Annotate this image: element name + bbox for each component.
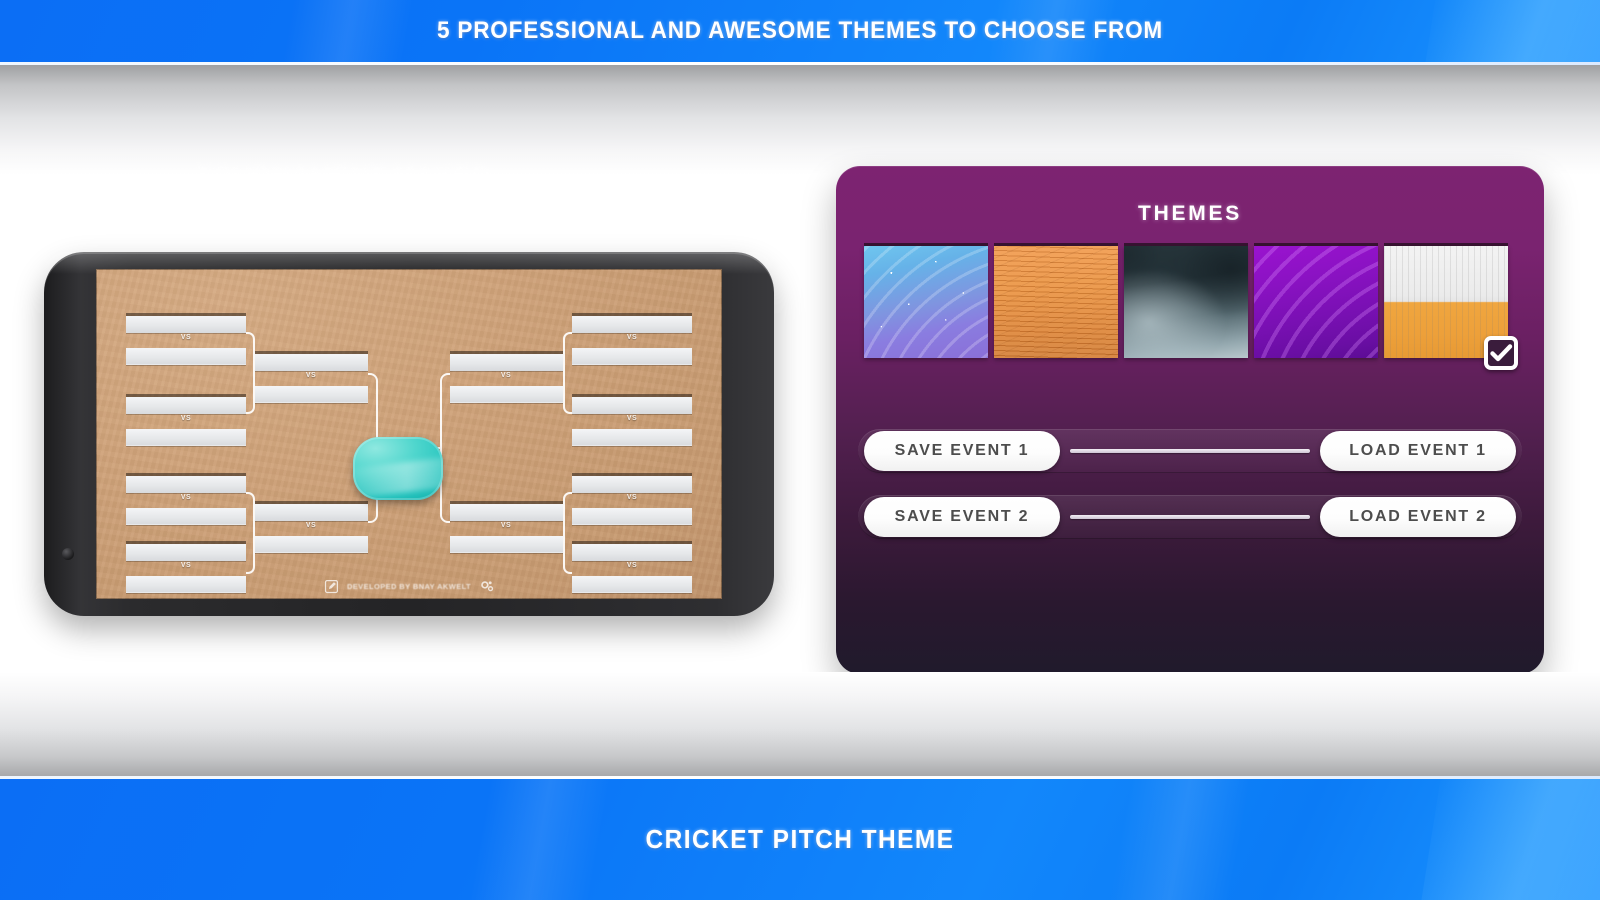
gear-icon[interactable] [479, 579, 494, 594]
theme-selected-checkbox[interactable] [1484, 336, 1518, 370]
match-vs-label: VS [501, 522, 511, 529]
top-banner-divider [0, 62, 1600, 65]
page-title: 5 PROFESSIONAL AND AWESOME THEMES TO CHO… [48, 0, 1552, 62]
save-event-1-button[interactable]: SAVE EVENT 1 [864, 431, 1060, 471]
event-slot-divider [1070, 449, 1310, 453]
match-vs-label: VS [627, 494, 637, 501]
theme-thumbnail [1254, 246, 1378, 358]
bracket-connector [246, 332, 255, 414]
theme-option-cricket-pitch[interactable] [1384, 246, 1508, 358]
event-slot-divider [1070, 515, 1310, 519]
match-vs-label: VS [627, 334, 637, 341]
theme-option-wood[interactable] [994, 246, 1118, 358]
bracket-slot[interactable] [126, 476, 246, 493]
bottom-gradient-band [0, 672, 1600, 776]
match-vs-label: VS [627, 415, 637, 422]
bracket-slot[interactable] [126, 508, 246, 525]
match-vs-label: VS [501, 372, 511, 379]
theme-option-smoke[interactable] [1124, 246, 1248, 358]
event-slot-row-2: SAVE EVENT 2 LOAD EVENT 2 [858, 495, 1522, 539]
phone-camera-icon [62, 548, 74, 560]
top-banner: 5 PROFESSIONAL AND AWESOME THEMES TO CHO… [0, 0, 1600, 62]
bracket-slot[interactable] [255, 504, 368, 521]
check-icon [1489, 341, 1513, 365]
bracket-slot[interactable] [572, 508, 692, 525]
bracket-slot[interactable] [572, 576, 692, 593]
bracket-slot[interactable] [126, 544, 246, 561]
promo-screenshot: 5 PROFESSIONAL AND AWESOME THEMES TO CHO… [0, 0, 1600, 900]
bracket-slot[interactable] [450, 386, 563, 403]
ghost-app-title: TOURNAMENT MAKER [196, 160, 586, 200]
theme-option-blue-waves[interactable] [864, 246, 988, 358]
match-vs-label: VS [627, 562, 637, 569]
bracket-connector [246, 492, 255, 574]
bracket-slot[interactable] [126, 429, 246, 446]
tournament-winner-badge[interactable] [353, 437, 443, 500]
screen-footer: DEVELOPED BY BNAY AKWELT [324, 579, 494, 594]
bracket-connector [563, 332, 572, 414]
bracket-slot[interactable] [572, 544, 692, 561]
bracket-slot[interactable] [126, 316, 246, 333]
bracket-slot[interactable] [450, 504, 563, 521]
bracket-slot[interactable] [450, 536, 563, 553]
phone-screen: VS VS VS VS VS VS VS [96, 269, 722, 599]
bracket-slot[interactable] [126, 397, 246, 414]
bracket-slot[interactable] [126, 348, 246, 365]
panel-title: THEMES [836, 202, 1544, 226]
themes-panel: THEMES [836, 166, 1544, 674]
bottom-banner: CRICKET PITCH THEME [0, 779, 1600, 900]
theme-thumbnail [994, 246, 1118, 358]
event-slot-row-1: SAVE EVENT 1 LOAD EVENT 1 [858, 429, 1522, 473]
bracket-slot[interactable] [572, 348, 692, 365]
bracket-slot[interactable] [255, 354, 368, 371]
theme-thumbnail [864, 246, 988, 358]
bracket-connector [563, 492, 572, 574]
phone-mockup: VS VS VS VS VS VS VS [44, 252, 774, 616]
match-vs-label: VS [181, 562, 191, 569]
save-event-2-button[interactable]: SAVE EVENT 2 [864, 497, 1060, 537]
theme-name-caption: CRICKET PITCH THEME [48, 779, 1552, 900]
developer-credit: DEVELOPED BY BNAY AKWELT [347, 582, 471, 591]
bracket-slot[interactable] [126, 576, 246, 593]
bracket-slot[interactable] [255, 536, 368, 553]
load-event-1-button[interactable]: LOAD EVENT 1 [1320, 431, 1516, 471]
match-vs-label: VS [181, 334, 191, 341]
top-gradient-band [0, 65, 1600, 175]
theme-thumbnail [1124, 246, 1248, 358]
bracket-connector [440, 373, 450, 523]
match-vs-label: VS [181, 415, 191, 422]
match-vs-label: VS [181, 494, 191, 501]
bracket-slot[interactable] [450, 354, 563, 371]
bracket-slot[interactable] [255, 386, 368, 403]
theme-option-purple-waves[interactable] [1254, 246, 1378, 358]
match-vs-label: VS [306, 372, 316, 379]
bracket-slot[interactable] [572, 316, 692, 333]
bracket-slot[interactable] [572, 476, 692, 493]
edit-icon[interactable] [324, 579, 339, 594]
bracket-slot[interactable] [572, 429, 692, 446]
theme-selector-row [864, 246, 1516, 364]
match-vs-label: VS [306, 522, 316, 529]
load-event-2-button[interactable]: LOAD EVENT 2 [1320, 497, 1516, 537]
bracket-slot[interactable] [572, 397, 692, 414]
